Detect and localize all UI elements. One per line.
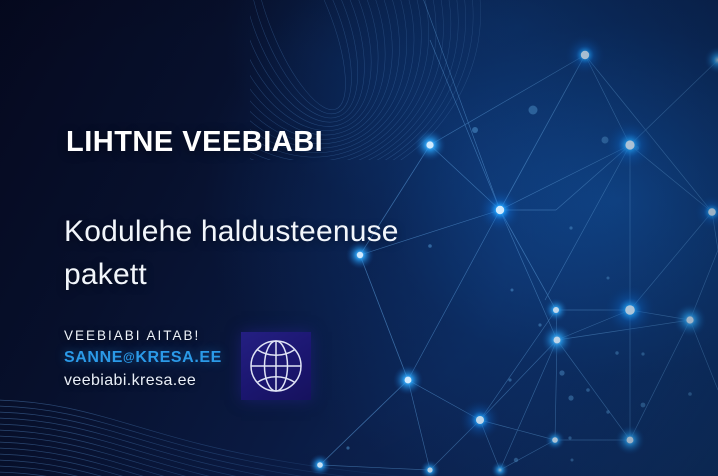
page-subtitle: Kodulehe haldusteenuse pakett — [64, 211, 464, 296]
contact-tagline: VEEBIABI AITAB! — [64, 328, 222, 343]
contact-email[interactable]: SANNE@KRESA.EE — [64, 349, 222, 367]
promo-banner: LIHTNE VEEBIABI Kodulehe haldusteenuse p… — [0, 0, 718, 476]
banner-content: LIHTNE VEEBIABI Kodulehe haldusteenuse p… — [0, 0, 440, 476]
contact-block: VEEBIABI AITAB! SANNE@KRESA.EE veebiabi.… — [64, 328, 222, 390]
contact-email-at: @ — [123, 350, 135, 364]
contact-url[interactable]: veebiabi.kresa.ee — [64, 372, 222, 390]
globe-icon — [241, 332, 311, 400]
contact-email-domain: KRESA.EE — [135, 349, 222, 366]
contact-email-user: SANNE — [64, 349, 123, 366]
page-title: LIHTNE VEEBIABI — [66, 126, 323, 159]
